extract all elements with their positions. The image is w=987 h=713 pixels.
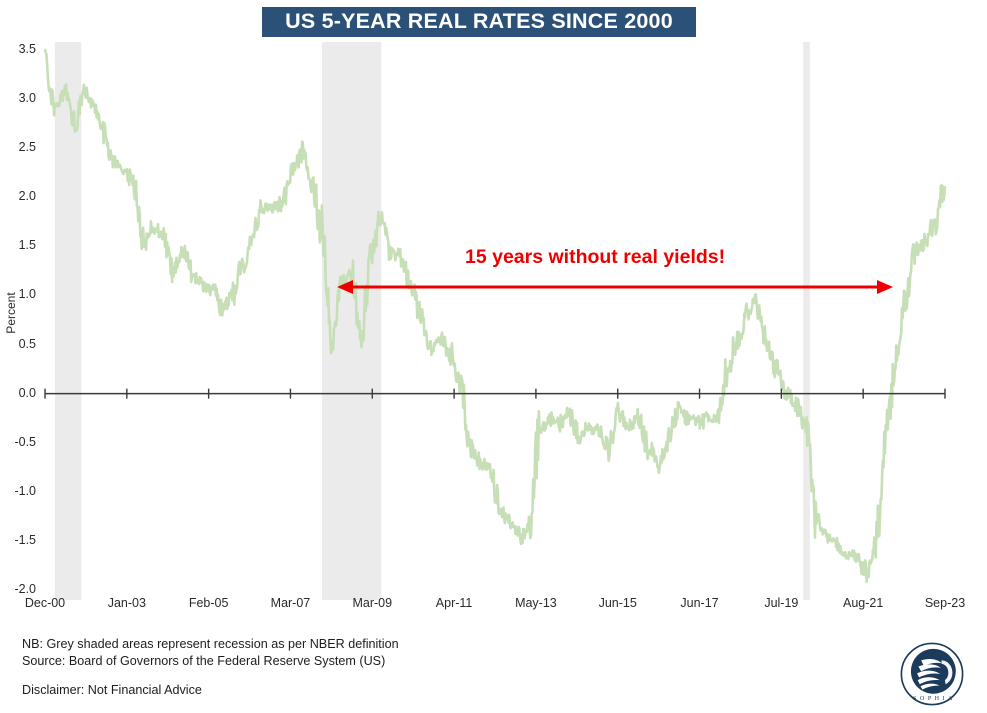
recession-bands-group (55, 42, 810, 600)
series-line-us-5y-real-rate (45, 50, 945, 582)
y-tick-label: 2.5 (2, 141, 36, 154)
x-tick-label: Jan-03 (87, 597, 167, 610)
footer-notes: NB: Grey shaded areas represent recessio… (22, 636, 399, 670)
y-tick-label: 3.5 (2, 43, 36, 56)
chart-page: US 5-YEAR REAL RATES SINCE 2000 3.53.02.… (0, 0, 987, 713)
x-tick-label: Sep-23 (905, 597, 985, 610)
y-tick-label: -0.5 (2, 436, 36, 449)
y-tick-label: -1.5 (2, 534, 36, 547)
x-tick-label: Jul-19 (741, 597, 821, 610)
y-tick-label: 0.0 (2, 387, 36, 400)
data-series-group (45, 50, 945, 582)
y-tick-label: 1.5 (2, 239, 36, 252)
x-tick-label: Jun-15 (578, 597, 658, 610)
x-tick-label: Feb-05 (169, 597, 249, 610)
sophia-logo: S O P H I A (898, 640, 966, 708)
zero-axis-group (45, 389, 945, 399)
y-tick-label: 2.0 (2, 190, 36, 203)
svg-text:S O P H I A: S O P H I A (913, 696, 953, 702)
x-tick-label: Aug-21 (823, 597, 903, 610)
x-tick-label: Dec-00 (5, 597, 85, 610)
x-tick-label: Mar-07 (250, 597, 330, 610)
source-note: Source: Board of Governors of the Federa… (22, 653, 399, 670)
y-tick-label: -1.0 (2, 485, 36, 498)
y-tick-label: 3.0 (2, 92, 36, 105)
x-tick-label: Jun-17 (660, 597, 740, 610)
annotation-arrowhead-right (877, 280, 893, 294)
y-tick-label: -2.0 (2, 583, 36, 596)
x-tick-label: May-13 (496, 597, 576, 610)
recession-band (803, 42, 810, 600)
annotation-label: 15 years without real yields! (465, 248, 725, 268)
x-tick-label: Apr-11 (414, 597, 494, 610)
disclaimer-note: Disclaimer: Not Financial Advice (22, 684, 202, 697)
y-axis-title: Percent (5, 283, 17, 343)
x-tick-label: Mar-09 (332, 597, 412, 610)
nb-note: NB: Grey shaded areas represent recessio… (22, 636, 399, 653)
logo-wordmark: S O P H I A (913, 696, 953, 702)
